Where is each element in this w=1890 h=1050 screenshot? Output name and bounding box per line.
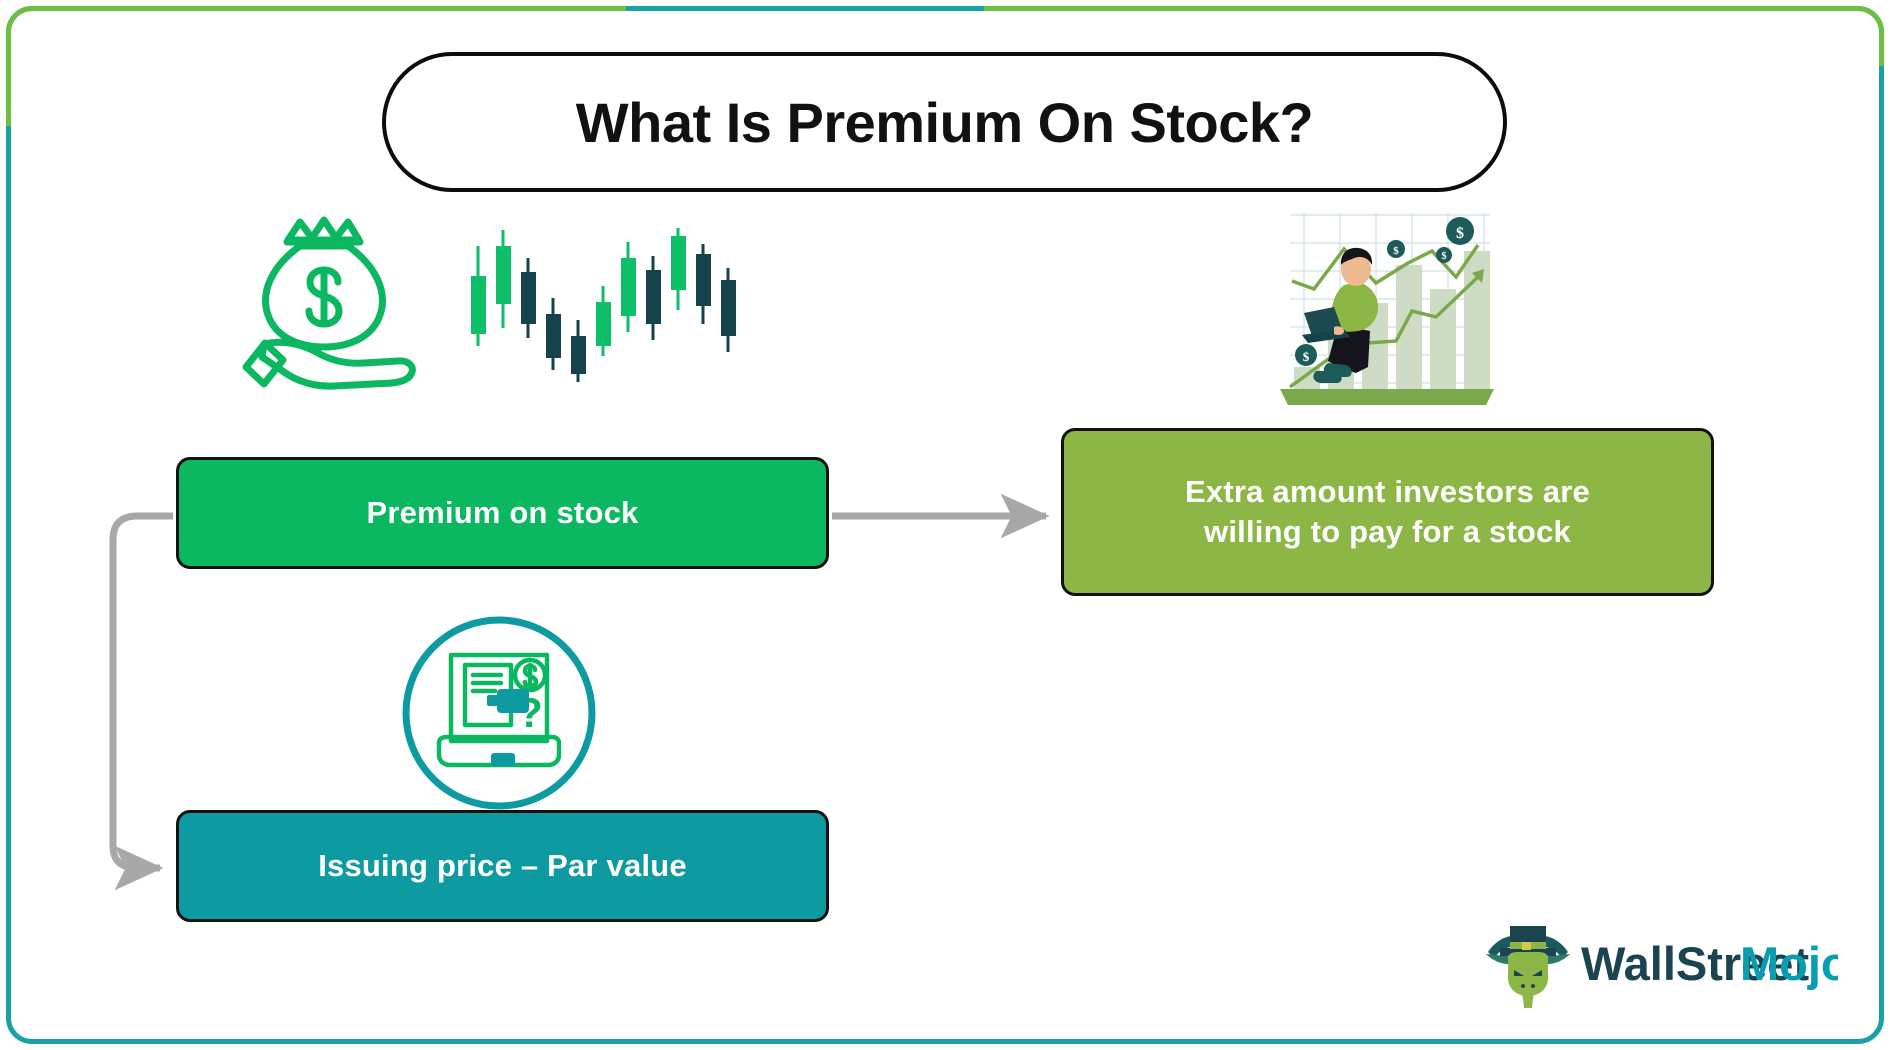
page-title: What Is Premium On Stock? <box>576 90 1313 155</box>
node-premium-on-stock-label: Premium on stock <box>367 493 639 533</box>
candle <box>721 268 736 352</box>
candle <box>621 242 636 332</box>
coin: $ <box>1295 344 1317 366</box>
candle <box>521 258 536 338</box>
candle <box>671 228 686 310</box>
candle <box>546 298 561 370</box>
investor-on-growth-chart-illustration: $ $ $ $ <box>1272 203 1502 411</box>
node-extra-amount-line2: willing to pay for a stock <box>1204 514 1571 549</box>
laptop-document-dollar-question-icon: ? <box>399 613 599 813</box>
coin: $ <box>1436 247 1452 263</box>
candlestick-chart-icon <box>470 228 750 388</box>
money-bag-in-hand-icon <box>238 212 428 392</box>
candle <box>471 246 486 346</box>
coin: $ <box>1387 240 1405 258</box>
candle <box>696 244 711 324</box>
bull-with-top-hat-icon <box>1486 926 1570 1008</box>
node-extra-amount-label: Extra amount investors are willing to pa… <box>1185 472 1590 551</box>
candle <box>496 230 511 328</box>
node-extra-amount-line1: Extra amount investors are <box>1185 474 1590 509</box>
svg-text:$: $ <box>1456 225 1464 242</box>
coin: $ <box>1446 217 1474 245</box>
node-issuing-price-par-value[interactable]: Issuing price – Par value <box>176 810 829 922</box>
wallstreetmojo-logo[interactable]: WallStreet Mojo <box>1478 918 1838 1010</box>
title-pill: What Is Premium On Stock? <box>382 52 1507 192</box>
candle <box>571 320 586 382</box>
svg-text:$: $ <box>1303 349 1310 364</box>
svg-text:$: $ <box>1442 251 1447 262</box>
candle <box>646 256 661 340</box>
infographic-canvas: What Is Premium On Stock? <box>0 0 1890 1050</box>
svg-text:$: $ <box>1393 245 1399 257</box>
logo-text-accent: Mojo <box>1740 937 1838 990</box>
node-extra-amount[interactable]: Extra amount investors are willing to pa… <box>1061 428 1714 596</box>
candle <box>596 286 611 356</box>
node-premium-on-stock[interactable]: Premium on stock <box>176 457 829 569</box>
chart-base <box>1280 389 1494 405</box>
node-issuing-price-label: Issuing price – Par value <box>318 846 687 886</box>
